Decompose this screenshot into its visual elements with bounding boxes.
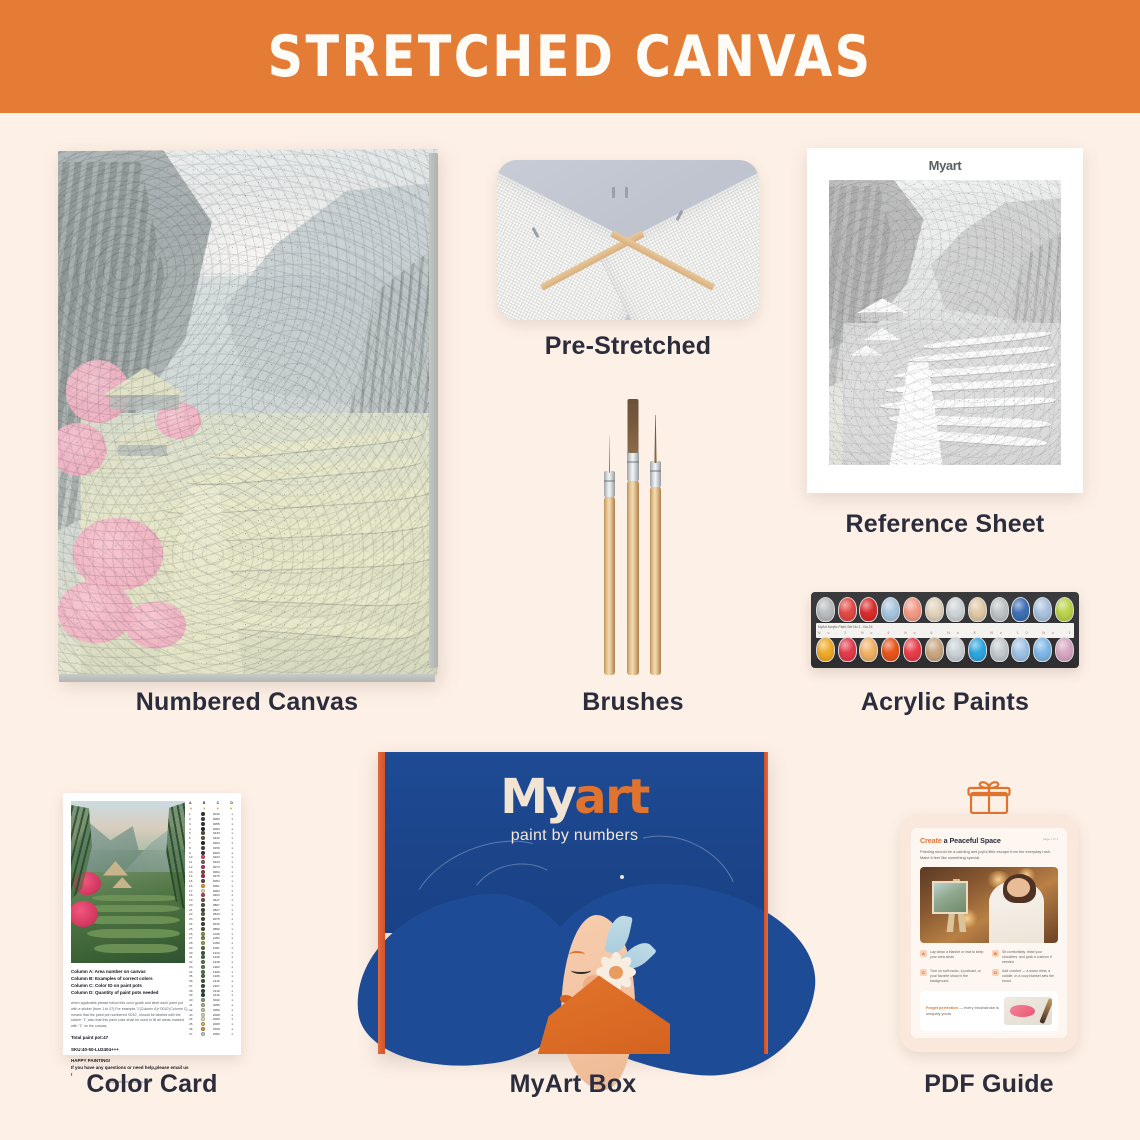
paint-pot [968, 597, 987, 622]
cc-terrace [92, 895, 179, 901]
legend-area-number: 25 [189, 927, 196, 931]
arrow-down-icon: ▼ [189, 806, 193, 811]
legend-quantity: 1 [228, 817, 233, 821]
paint-pot [990, 597, 1009, 622]
legend-quantity: 1 [228, 1032, 233, 1036]
legend-color-swatch [201, 827, 205, 831]
column-d-line: Column D: Quantity of paint pots needed [71, 990, 189, 997]
pdf-photo-canvas [932, 881, 968, 914]
paint-by-numbers-digits [58, 149, 438, 676]
legend-quantity: 1 [228, 841, 233, 845]
legend-header-c: C [217, 801, 220, 805]
legend-color-id: 0094 [209, 870, 223, 874]
legend-quantity: 1 [228, 1008, 233, 1012]
legend-area-number: 22 [189, 912, 196, 916]
legend-area-number: 20 [189, 903, 196, 907]
legend-quantity: 1 [228, 879, 233, 883]
legend-color-swatch [201, 960, 205, 964]
pdf-tip-icon: D [992, 969, 999, 976]
pdf-tip-icon: C [920, 969, 927, 976]
legend-color-swatch [201, 841, 205, 845]
paint-pot [1011, 597, 1030, 622]
legend-color-swatch [201, 836, 205, 840]
legend-area-number: 15 [189, 879, 196, 883]
legend-area-number: 30 [189, 951, 196, 955]
legend-quantity: 1 [228, 884, 233, 888]
legend-row: 2108271 [188, 907, 234, 912]
pdf-callout-paint [1010, 1005, 1035, 1017]
total-paint-pot: Total paint pot:47 [71, 1035, 189, 1042]
cc-terrace [85, 905, 181, 912]
pdf-tip-text: Sit comfortably, relax your shoulders, a… [1002, 950, 1058, 965]
logo-my: My [500, 769, 574, 825]
brush-bristles [654, 415, 658, 463]
legend-area-number: 38 [189, 989, 196, 993]
legend-color-id: 2062 [209, 1032, 223, 1036]
paint-pot [859, 597, 878, 622]
legend-color-id: 0403 [209, 893, 223, 897]
myart-box-image: Myart paint by numbers [378, 752, 768, 1054]
legend-row: 2300751 [188, 917, 234, 922]
brush-ferrule [650, 461, 661, 487]
legend-area-number: 14 [189, 874, 196, 878]
product-infographic: STRETCHED CANVAS [0, 0, 1140, 1140]
legend-color-id: 3040 [209, 1027, 223, 1031]
legend-quantity: 1 [228, 974, 233, 978]
pdf-photo [920, 867, 1058, 943]
legend-color-id: 0054 [209, 879, 223, 883]
legend-area-number: 8 [189, 846, 196, 850]
legend-color-id: 0890 [209, 927, 223, 931]
legend-color-swatch [201, 965, 205, 969]
legend-color-id: 1046 [209, 932, 223, 936]
legend-color-swatch [201, 936, 205, 940]
legend-row: 3119161 [188, 955, 234, 960]
pdf-callout-brush [1039, 998, 1052, 1024]
caption-pdf-guide: PDF Guide [900, 1070, 1078, 1099]
paint-pot [1033, 597, 1052, 622]
happy-painting-label: HAPPY PAINTING! [71, 1058, 189, 1063]
pdf-tips-grid: ALay down a blanket or mat to keep your … [920, 950, 1058, 984]
legend-quantity: 1 [228, 932, 233, 936]
pdf-tip: ALay down a blanket or mat to keep your … [920, 950, 986, 965]
logo-art: art [574, 769, 649, 825]
legend-quantity: 1 [228, 960, 233, 964]
paint-pot [838, 597, 857, 622]
legend-row: 2400791 [188, 922, 234, 927]
page-header: STRETCHED CANVAS [0, 0, 1140, 113]
legend-row: 2610461 [188, 931, 234, 936]
legend-row: 1500541 [188, 879, 234, 884]
brush-flat [627, 397, 639, 675]
legend-quantity: 1 [228, 1027, 233, 1031]
canvas-side-edge [429, 153, 438, 668]
legend-area-number: 39 [189, 993, 196, 997]
brushes-image [598, 390, 668, 675]
legend-area-number: 5 [189, 831, 196, 835]
staple-icon [612, 187, 615, 198]
legend-color-swatch [201, 1022, 205, 1026]
legend-color-swatch [201, 865, 205, 869]
daisy-center [609, 966, 623, 980]
paint-pot [925, 637, 944, 662]
legend-row: 3019131 [188, 950, 234, 955]
legend-color-swatch [201, 955, 205, 959]
paint-pot [1011, 637, 1030, 662]
legend-area-number: 27 [189, 936, 196, 940]
legend-row: 1102441 [188, 860, 234, 865]
legend-quantity: 1 [228, 970, 233, 974]
brush-handle [650, 485, 661, 675]
legend-quantity: 1 [228, 893, 233, 897]
brush-ferrule [627, 451, 639, 481]
legend-color-swatch [201, 932, 205, 936]
legend-color-id: 1918 [209, 960, 223, 964]
legend-row: 3319021 [188, 965, 234, 970]
legend-quantity: 1 [228, 870, 233, 874]
box-right-edge [764, 752, 768, 1054]
legend-color-id: 0079 [209, 922, 223, 926]
legend-color-id: 0617 [209, 898, 223, 902]
color-card-photo [71, 801, 185, 963]
legend-color-swatch [201, 831, 205, 835]
arrow-down-icon: ▼ [229, 806, 233, 811]
legend-color-id: 2008 [209, 1013, 223, 1017]
pdf-callout-text: Forget perfection — every brushstroke is… [926, 1005, 999, 1016]
brush-bristles [608, 435, 611, 473]
legend-header-a: A [189, 801, 192, 805]
pdf-heading-accent: Create [920, 836, 942, 845]
legend-quantity: 1 [228, 898, 233, 902]
legend-color-id: 2116 [209, 993, 223, 997]
pdf-callout: Forget perfection — every brushstroke is… [920, 991, 1058, 1031]
legend-color-swatch [201, 812, 205, 816]
legend-color-id: 0010 [209, 812, 223, 816]
legend-color-id: 2107 [209, 984, 223, 988]
legend-color-id: 0055 [209, 822, 223, 826]
legend-color-id: 1926 [209, 970, 223, 974]
legend-area-number: 13 [189, 870, 196, 874]
legend-color-id: 1913 [209, 951, 223, 955]
column-b-line: Column B: Examples of correct colors [71, 976, 189, 983]
legend-color-id: 0075 [209, 917, 223, 921]
pdf-tip-icon: A [920, 950, 927, 957]
legend-row: 2206341 [188, 912, 234, 917]
legend-area-number: 9 [189, 851, 196, 855]
legend-quantity: 1 [228, 836, 233, 840]
legend-quantity: 1 [228, 912, 233, 916]
legend-quantity: 1 [228, 1003, 233, 1007]
legend-header-d: D [230, 801, 233, 805]
brush-handle [604, 495, 615, 675]
legend-area-number: 34 [189, 970, 196, 974]
legend-color-id: 0020 [209, 851, 223, 855]
legend-quantity: 1 [228, 831, 233, 835]
paint-label-line-1: MyArt Acrylic Paint Set No.1 - No.24 [818, 625, 1072, 629]
legend-row: 3219181 [188, 960, 234, 965]
pdf-photo-painter-head [1007, 878, 1030, 898]
paint-pot [925, 597, 944, 622]
legend-row: 4420091 [188, 1017, 234, 1022]
legend-row: 801561 [188, 845, 234, 850]
reference-sheet-logo: Myart [807, 158, 1083, 173]
pdf-callout-image [1004, 997, 1052, 1025]
legend-color-id: 0050 [209, 817, 223, 821]
pdf-tip-text: Add comfort — a warm drink, a candle, or… [1002, 969, 1058, 984]
paint-pot [859, 637, 878, 662]
staple-icon [625, 187, 628, 198]
legend-color-id: 3042 [209, 998, 223, 1002]
legend-area-number: 4 [189, 827, 196, 831]
legend-row: 3721071 [188, 984, 234, 989]
numbered-canvas-image [57, 150, 437, 675]
legend-row: 4720621 [188, 1031, 234, 1036]
legend-color-id: 0634 [209, 912, 223, 916]
legend-row: 4030421 [188, 998, 234, 1003]
legend-row: 1402751 [188, 874, 234, 879]
legend-color-id: 0244 [209, 860, 223, 864]
legend-area-number: 23 [189, 917, 196, 921]
legend-quantity: 1 [228, 1017, 233, 1021]
legend-row: 3821191 [188, 988, 234, 993]
legend-color-id: 0074 [209, 865, 223, 869]
pdf-callout-bold: Forget perfection [926, 1005, 958, 1010]
legend-color-swatch [201, 817, 205, 821]
legend-color-id: 0807 [209, 903, 223, 907]
legend-rows: 1001012005013005514009315013316013217020… [188, 812, 234, 1036]
legend-color-swatch [201, 912, 205, 916]
legend-area-number: 24 [189, 922, 196, 926]
legend-row: 4230501 [188, 1007, 234, 1012]
legend-quantity: 1 [228, 965, 233, 969]
legend-color-swatch [201, 951, 205, 955]
legend-quantity: 1 [228, 860, 233, 864]
legend-quantity: 1 [228, 908, 233, 912]
caption-myart-box: MyArt Box [378, 1070, 768, 1099]
legend-color-id: 1936 [209, 974, 223, 978]
paint-pot [881, 597, 900, 622]
legend-quantity: 1 [228, 822, 233, 826]
paint-pot [903, 597, 922, 622]
legend-color-swatch [201, 884, 205, 888]
reference-sheet-artwork [829, 180, 1061, 465]
legend-color-swatch [201, 941, 205, 945]
legend-row: 2508901 [188, 926, 234, 931]
legend-color-swatch [201, 979, 205, 983]
legend-row: 702031 [188, 841, 234, 846]
pdf-guide-image: page 1 of 1 Create a Peaceful Space Pain… [900, 780, 1078, 1052]
caption-acrylic-paints: Acrylic Paints [811, 688, 1079, 717]
brush-liner [650, 417, 661, 675]
legend-quantity: 1 [228, 927, 233, 931]
pdf-guide-page: page 1 of 1 Create a Peaceful Space Pain… [911, 828, 1067, 1038]
legend-area-number: 47 [189, 1032, 196, 1036]
color-card-text: Column A: Area number on canvas Column B… [71, 969, 189, 1084]
legend-area-number: 43 [189, 1013, 196, 1017]
legend-color-id: 3055 [209, 1003, 223, 1007]
legend-row: 2910611 [188, 945, 234, 950]
legend-color-swatch [201, 989, 205, 993]
pdf-tip-text: Turn on soft music, a podcast, or your f… [930, 969, 986, 984]
legend-area-number: 17 [189, 889, 196, 893]
legend-color-swatch [201, 1013, 205, 1017]
pdf-tip: BSit comfortably, relax your shoulders, … [992, 950, 1058, 965]
legend-color-id: 0001 [209, 884, 223, 888]
legend-color-swatch [201, 927, 205, 931]
column-c-line: Column C: Color ID on paint pots [71, 983, 189, 990]
legend-row: 3419261 [188, 969, 234, 974]
legend-area-number: 19 [189, 898, 196, 902]
paint-pot [1055, 637, 1074, 662]
caption-brushes: Brushes [497, 688, 769, 717]
legend-row: 4130551 [188, 1003, 234, 1008]
caption-pre-stretched: Pre-Stretched [497, 332, 759, 361]
column-a-line: Column A: Area number on canvas [71, 969, 189, 976]
legend-area-number: 2 [189, 817, 196, 821]
legend-color-id: 1916 [209, 955, 223, 959]
legend-color-swatch [201, 908, 205, 912]
legend-color-id: 2119 [209, 989, 223, 993]
paint-pot-row-top [816, 597, 1074, 623]
legend-color-swatch [201, 998, 205, 1002]
page-title: STRETCHED CANVAS [268, 24, 873, 90]
cc-pagoda-roof [112, 877, 133, 888]
legend-area-number: 45 [189, 1022, 196, 1026]
arrow-down-icon: ▼ [202, 806, 206, 811]
legend-color-swatch [201, 893, 205, 897]
legend-color-swatch [201, 846, 205, 850]
legend-row: 3519361 [188, 974, 234, 979]
cc-terrace [87, 929, 180, 938]
legend-row: 501331 [188, 831, 234, 836]
legend-color-id: 0275 [209, 874, 223, 878]
legend-color-id: 0064 [209, 889, 223, 893]
paint-pot [946, 637, 965, 662]
canvas-bottom-edge [59, 674, 435, 682]
paint-pot-row-bottom [816, 637, 1074, 663]
pdf-heading-rest: a Peaceful Space [942, 836, 1001, 845]
ref-digits [829, 180, 1061, 465]
cc-terrace [94, 944, 178, 954]
legend-quantity: 1 [228, 936, 233, 940]
brush-ferrule [604, 471, 615, 497]
arrow-down-icon: ▼ [216, 806, 220, 811]
paint-pot [838, 637, 857, 662]
paint-pot [990, 637, 1009, 662]
legend-area-number: 6 [189, 836, 196, 840]
paint-label-line-2: No.2 No.4 No.6 No.8 No.10 No.12 [818, 631, 1072, 635]
legend-row: 3621161 [188, 979, 234, 984]
legend-color-swatch [201, 889, 205, 893]
legend-color-id: 0133 [209, 831, 223, 835]
caption-numbered-canvas: Numbered Canvas [57, 688, 437, 717]
legend-area-number: 26 [189, 932, 196, 936]
illustration-eye [571, 966, 591, 973]
legend-header-b: B [203, 801, 206, 805]
legend-color-swatch [201, 1027, 205, 1031]
brush-round-detail [604, 440, 615, 675]
legend-quantity: 1 [228, 846, 233, 850]
canvas-artwork [58, 149, 438, 676]
legend-row: 4520081 [188, 1022, 234, 1027]
legend-row: 2710521 [188, 936, 234, 941]
caption-reference-sheet: Reference Sheet [807, 510, 1083, 539]
legend-color-swatch [201, 860, 205, 864]
legend-row: 1002231 [188, 855, 234, 860]
legend-color-id: 0827 [209, 908, 223, 912]
paint-pot [1055, 597, 1074, 622]
pdf-tip: CTurn on soft music, a podcast, or your … [920, 969, 986, 984]
legend-color-id: 0132 [209, 836, 223, 840]
legend-row: 900201 [188, 850, 234, 855]
legend-quantity: 1 [228, 989, 233, 993]
gift-icon [967, 780, 1011, 814]
legend-color-id: 1061 [209, 946, 223, 950]
legend-color-id: 3050 [209, 1008, 223, 1012]
legend-color-id: 1050 [209, 941, 223, 945]
legend-row: 100101 [188, 812, 234, 817]
color-card-note: when applicable,please follow this color… [71, 1001, 189, 1030]
legend-color-swatch [201, 874, 205, 878]
legend-area-number: 11 [189, 860, 196, 864]
legend-row: 2810501 [188, 941, 234, 946]
legend-color-id: 2008 [209, 1022, 223, 1026]
legend-color-id: 0223 [209, 855, 223, 859]
myart-logo: Myart paint by numbers [385, 769, 764, 845]
pre-stretched-image [497, 160, 759, 320]
legend-quantity: 1 [228, 903, 233, 907]
legend-color-id: 1052 [209, 936, 223, 940]
legend-area-number: 46 [189, 1027, 196, 1031]
legend-quantity: 1 [228, 979, 233, 983]
legend-color-swatch [201, 970, 205, 974]
legend-area-number: 12 [189, 865, 196, 869]
legend-color-swatch [201, 984, 205, 988]
legend-quantity: 1 [228, 874, 233, 878]
legend-area-number: 32 [189, 960, 196, 964]
legend-quantity: 1 [228, 889, 233, 893]
legend-quantity: 1 [228, 855, 233, 859]
legend-quantity: 1 [228, 955, 233, 959]
legend-row: 300551 [188, 822, 234, 827]
legend-color-id: 0093 [209, 827, 223, 831]
legend-row: 4630401 [188, 1026, 234, 1031]
legend-quantity: 1 [228, 951, 233, 955]
legend-color-id: 0203 [209, 841, 223, 845]
reference-sheet-image: Myart [807, 148, 1083, 493]
paint-pot [903, 637, 922, 662]
legend-row: 1600011 [188, 883, 234, 888]
legend-area-number: 41 [189, 1003, 196, 1007]
legend-area-number: 18 [189, 893, 196, 897]
legend-area-number: 3 [189, 822, 196, 826]
legend-area-number: 44 [189, 1017, 196, 1021]
legend-row: 1804031 [188, 893, 234, 898]
legend-color-swatch [201, 946, 205, 950]
legend-area-number: 1 [189, 812, 196, 816]
paint-pot [968, 637, 987, 662]
paint-pot [816, 597, 835, 622]
legend-row: 200501 [188, 817, 234, 822]
legend-color-swatch [201, 898, 205, 902]
legend-quantity: 1 [228, 865, 233, 869]
legend-color-swatch [201, 1003, 205, 1007]
paint-pot [881, 637, 900, 662]
legend-color-swatch [201, 993, 205, 997]
pdf-subtitle: Painting should be a calming and joyful … [920, 849, 1058, 861]
legend-row: 1300941 [188, 869, 234, 874]
pdf-tip: DAdd comfort — a warm drink, a candle, o… [992, 969, 1058, 984]
